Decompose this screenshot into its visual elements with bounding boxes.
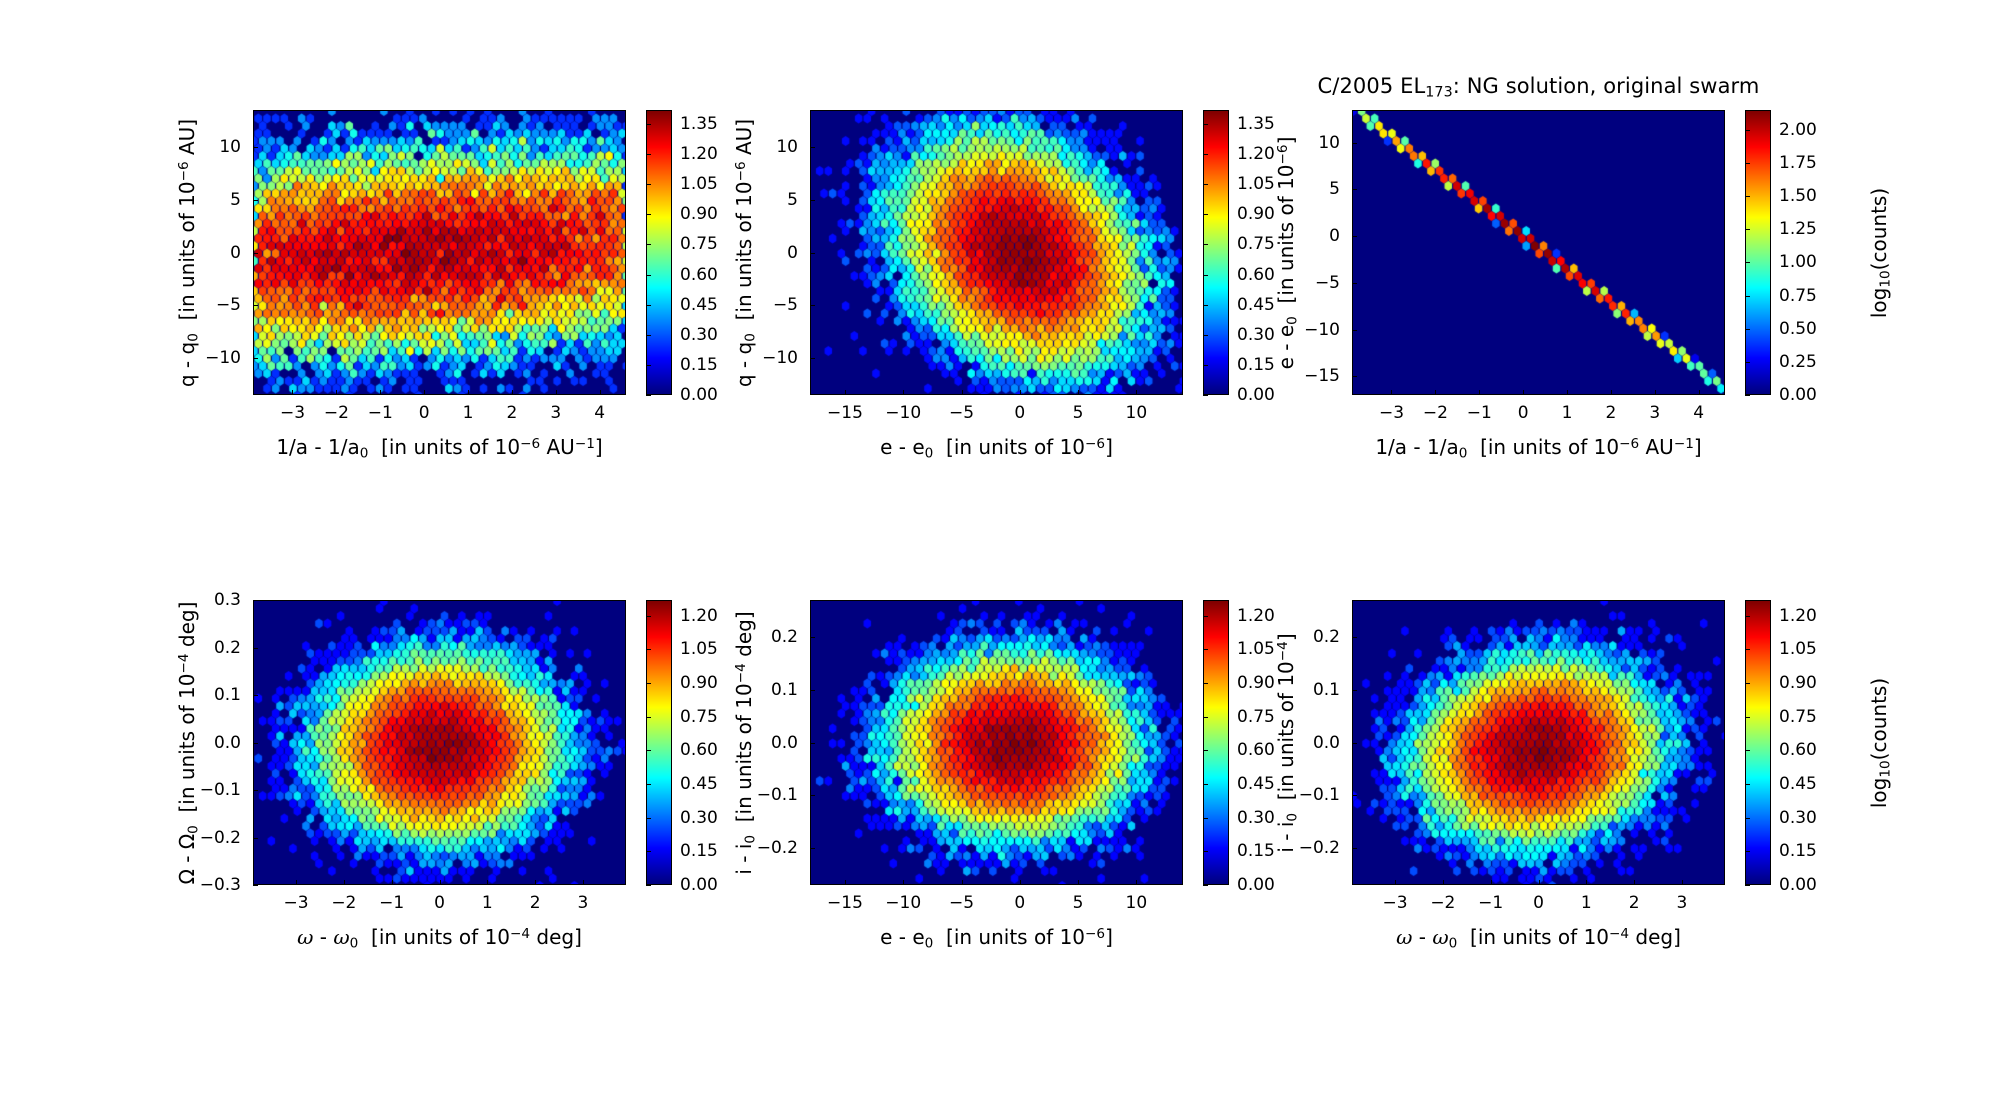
colorbar-tickmark bbox=[1745, 750, 1750, 751]
y-tickmark bbox=[253, 253, 258, 254]
colorbar-tickmark bbox=[646, 244, 651, 245]
x-tickmark bbox=[1443, 880, 1444, 885]
x-tickmark bbox=[1435, 390, 1436, 395]
y-tickmark bbox=[810, 637, 815, 638]
colorbar-tick-label: 0.00 bbox=[1779, 875, 1817, 895]
y-tick-label: −0.3 bbox=[200, 875, 241, 895]
y-tick-label: 5 bbox=[1329, 179, 1340, 199]
x-tickmark bbox=[1539, 880, 1540, 885]
colorbar-tick-label: 0.45 bbox=[1237, 774, 1275, 794]
colorbar-tick-label: 0.60 bbox=[1237, 265, 1275, 285]
x-tickmark bbox=[292, 390, 293, 395]
y-tickmark bbox=[1352, 743, 1357, 744]
x-tick-label: −3 bbox=[1379, 403, 1404, 423]
axes-area-2 bbox=[810, 110, 1183, 395]
colorbar-tick-label: 0.30 bbox=[1779, 808, 1817, 828]
colorbar-tickmark bbox=[1745, 683, 1750, 684]
hexbin-plot-1 bbox=[254, 111, 625, 394]
colorbar-tick-label: 0.90 bbox=[1237, 673, 1275, 693]
x-tick-label: −5 bbox=[949, 893, 974, 913]
y-tick-label: −15 bbox=[1304, 366, 1340, 386]
colorbar-tick-label: 0.75 bbox=[1237, 234, 1275, 254]
colorbar-3 bbox=[1745, 110, 1771, 395]
x-tick-label: −1 bbox=[1478, 893, 1503, 913]
x-tick-label: −2 bbox=[324, 403, 349, 423]
colorbar-tickmark bbox=[1203, 851, 1208, 852]
colorbar-tick-label: 0.00 bbox=[1237, 875, 1275, 895]
x-tick-label: −1 bbox=[379, 893, 404, 913]
x-tickmark bbox=[962, 880, 963, 885]
hexbin-plot-3 bbox=[1353, 111, 1724, 394]
y-axis-label-1: q - q0 [in units of 10−6 AU] bbox=[175, 118, 201, 386]
x-tick-label: −1 bbox=[1467, 403, 1492, 423]
colorbar-tickmark bbox=[1745, 163, 1750, 164]
hexbin-plot-2 bbox=[811, 111, 1182, 394]
y-tickmark bbox=[1352, 376, 1357, 377]
colorbar-tick-label: 0.90 bbox=[680, 673, 718, 693]
x-tick-label: 10 bbox=[1126, 403, 1148, 423]
x-tick-label: −2 bbox=[1423, 403, 1448, 423]
x-tickmark bbox=[962, 390, 963, 395]
y-tick-label: 0.1 bbox=[1313, 680, 1340, 700]
x-tickmark bbox=[1479, 390, 1480, 395]
colorbar-tickmark bbox=[1203, 335, 1208, 336]
colorbar-tickmark bbox=[1203, 717, 1208, 718]
colorbar-tickmark bbox=[1203, 784, 1208, 785]
y-tickmark bbox=[810, 358, 815, 359]
hexbin-plot-6 bbox=[1353, 601, 1724, 884]
x-tick-label: 3 bbox=[550, 403, 561, 423]
x-tickmark bbox=[424, 390, 425, 395]
y-tickmark bbox=[810, 147, 815, 148]
x-tickmark bbox=[1611, 390, 1612, 395]
x-tick-label: −2 bbox=[331, 893, 356, 913]
x-tickmark bbox=[1136, 390, 1137, 395]
x-tick-label: 1 bbox=[482, 893, 493, 913]
x-tickmark bbox=[600, 390, 601, 395]
axes-area-6 bbox=[1352, 600, 1725, 885]
colorbar-tickmark bbox=[646, 885, 651, 886]
colorbar-tick-label: 0.25 bbox=[1779, 352, 1817, 372]
colorbar-tickmark bbox=[1203, 184, 1208, 185]
colorbar-tickmark bbox=[646, 784, 651, 785]
colorbar-tickmark bbox=[1203, 365, 1208, 366]
x-tick-label: 0 bbox=[1014, 893, 1025, 913]
colorbar-tick-label: 1.35 bbox=[1237, 114, 1275, 134]
colorbar-tickmark bbox=[1203, 275, 1208, 276]
colorbar-tickmark bbox=[646, 818, 651, 819]
y-tickmark bbox=[810, 795, 815, 796]
colorbar-tickmark bbox=[646, 154, 651, 155]
colorbar-tick-label: 0.15 bbox=[680, 841, 718, 861]
y-axis-label-6: i - i0 [in units of 10−4] bbox=[1274, 633, 1300, 852]
y-tick-label: 0 bbox=[787, 243, 798, 263]
y-tickmark bbox=[810, 200, 815, 201]
x-tickmark bbox=[1491, 880, 1492, 885]
y-tick-label: 0.3 bbox=[214, 590, 241, 610]
x-axis-label-4: ω - ω0 [in units of 10−4 deg] bbox=[297, 925, 582, 951]
hexbin-plot-4 bbox=[254, 601, 625, 884]
x-tick-label: 10 bbox=[1126, 893, 1148, 913]
y-tick-label: 0 bbox=[1329, 226, 1340, 246]
colorbar-tick-label: 1.20 bbox=[1237, 144, 1275, 164]
y-tickmark bbox=[810, 848, 815, 849]
colorbar-tickmark bbox=[1745, 784, 1750, 785]
colorbar-tick-label: 0.75 bbox=[680, 234, 718, 254]
x-tickmark bbox=[1391, 390, 1392, 395]
y-tick-label: 10 bbox=[776, 137, 798, 157]
x-tickmark bbox=[1699, 390, 1700, 395]
colorbar-tickmark bbox=[646, 616, 651, 617]
figure-title: C/2005 EL173: NG solution, original swar… bbox=[1318, 74, 1760, 101]
x-tickmark bbox=[296, 880, 297, 885]
x-tick-label: 2 bbox=[1629, 893, 1640, 913]
y-tick-label: −5 bbox=[216, 295, 241, 315]
y-tick-label: −5 bbox=[1315, 273, 1340, 293]
x-tickmark bbox=[468, 390, 469, 395]
colorbar-tickmark bbox=[1745, 885, 1750, 886]
y-tickmark bbox=[253, 600, 258, 601]
colorbar-tickmark bbox=[646, 124, 651, 125]
y-tickmark bbox=[253, 358, 258, 359]
x-tickmark bbox=[1567, 390, 1568, 395]
colorbar-tick-label: 0.45 bbox=[680, 774, 718, 794]
x-tickmark bbox=[845, 880, 846, 885]
colorbar-tick-label: 1.05 bbox=[1779, 639, 1817, 659]
colorbar-tick-label: 0.15 bbox=[1237, 355, 1275, 375]
x-tick-label: 1 bbox=[463, 403, 474, 423]
y-axis-label-4: Ω - Ω0 [in units of 10−4 deg] bbox=[175, 601, 201, 884]
colorbar-gradient-2 bbox=[1204, 111, 1228, 394]
x-axis-label-6: ω - ω0 [in units of 10−4 deg] bbox=[1396, 925, 1681, 951]
x-tick-label: 0 bbox=[419, 403, 430, 423]
y-tickmark bbox=[810, 305, 815, 306]
x-tickmark bbox=[903, 390, 904, 395]
x-tickmark bbox=[1395, 880, 1396, 885]
colorbar-tickmark bbox=[646, 275, 651, 276]
colorbar-tickmark bbox=[1745, 362, 1750, 363]
x-tick-label: −3 bbox=[284, 893, 309, 913]
colorbar-tick-label: 0.45 bbox=[1779, 774, 1817, 794]
colorbar-tickmark bbox=[646, 214, 651, 215]
y-tick-label: 0.2 bbox=[771, 627, 798, 647]
y-tick-label: −0.1 bbox=[1299, 785, 1340, 805]
colorbar-tickmark bbox=[1745, 649, 1750, 650]
x-tick-label: 2 bbox=[1605, 403, 1616, 423]
y-tickmark bbox=[253, 695, 258, 696]
colorbar-tick-label: 0.00 bbox=[1779, 385, 1817, 405]
y-tickmark bbox=[253, 200, 258, 201]
colorbar-tick-label: 0.50 bbox=[1779, 319, 1817, 339]
x-tickmark bbox=[487, 880, 488, 885]
x-tick-label: 4 bbox=[594, 403, 605, 423]
y-tickmark bbox=[253, 648, 258, 649]
colorbar-gradient-1 bbox=[647, 111, 671, 394]
x-tickmark bbox=[1078, 390, 1079, 395]
x-tickmark bbox=[535, 880, 536, 885]
colorbar-tick-label: 1.05 bbox=[680, 639, 718, 659]
plot-panel-3: −3−2−1012341050−5−10−151/a - 1/a0 [in un… bbox=[0, 0, 2012, 1112]
colorbar-tick-label: 1.35 bbox=[680, 114, 718, 134]
colorbar-tickmark bbox=[646, 365, 651, 366]
x-tickmark bbox=[344, 880, 345, 885]
y-tick-label: −0.2 bbox=[200, 828, 241, 848]
x-tickmark bbox=[1682, 880, 1683, 885]
x-tick-label: 3 bbox=[1677, 893, 1688, 913]
y-axis-label-3: e - e0 [in units of 10−6] bbox=[1274, 136, 1300, 369]
x-tick-label: −15 bbox=[827, 403, 863, 423]
y-tick-label: −10 bbox=[762, 348, 798, 368]
colorbar-tickmark bbox=[1203, 154, 1208, 155]
x-tickmark bbox=[380, 390, 381, 395]
x-tickmark bbox=[1523, 390, 1524, 395]
x-tickmark bbox=[1078, 880, 1079, 885]
x-tick-label: 0 bbox=[1533, 893, 1544, 913]
colorbar-tickmark bbox=[1745, 851, 1750, 852]
y-axis-label-2: q - q0 [in units of 10−6 AU] bbox=[732, 118, 758, 386]
x-tick-label: 3 bbox=[578, 893, 589, 913]
colorbar-tick-label: 0.00 bbox=[680, 875, 718, 895]
colorbar-tickmark bbox=[1203, 124, 1208, 125]
x-axis-label-2: e - e0 [in units of 10−6] bbox=[880, 435, 1113, 461]
y-tickmark bbox=[1352, 330, 1357, 331]
colorbar-tick-label: 0.45 bbox=[680, 295, 718, 315]
colorbar-tick-label: 2.00 bbox=[1779, 120, 1817, 140]
x-tick-label: −3 bbox=[280, 403, 305, 423]
colorbar-tickmark bbox=[1745, 329, 1750, 330]
plot-panel-6: −3−2−101230.20.10.0−0.1−0.2ω - ω0 [in un… bbox=[0, 0, 2012, 1112]
y-tickmark bbox=[1352, 690, 1357, 691]
y-tickmark bbox=[1352, 189, 1357, 190]
x-tickmark bbox=[845, 390, 846, 395]
colorbar-tick-label: 1.05 bbox=[1237, 174, 1275, 194]
colorbar-tick-label: 1.20 bbox=[1779, 606, 1817, 626]
colorbar-tickmark bbox=[1745, 130, 1750, 131]
x-tickmark bbox=[1020, 390, 1021, 395]
y-tickmark bbox=[810, 743, 815, 744]
x-tick-label: 2 bbox=[506, 403, 517, 423]
colorbar-gradient-6 bbox=[1746, 601, 1770, 884]
colorbar-5 bbox=[1203, 600, 1229, 885]
x-tick-label: 2 bbox=[530, 893, 541, 913]
x-tick-label: 1 bbox=[1581, 893, 1592, 913]
x-tickmark bbox=[583, 880, 584, 885]
plot-panel-2: −15−10−505101050−5−10e - e0 [in units of… bbox=[0, 0, 2012, 1112]
x-tick-label: −2 bbox=[1430, 893, 1455, 913]
colorbar-tickmark bbox=[1203, 616, 1208, 617]
x-tickmark bbox=[1586, 880, 1587, 885]
x-tickmark bbox=[1634, 880, 1635, 885]
colorbar-tickmark bbox=[1745, 395, 1750, 396]
colorbar-tickmark bbox=[646, 184, 651, 185]
x-tick-label: −15 bbox=[827, 893, 863, 913]
colorbar-tick-label: 0.30 bbox=[680, 325, 718, 345]
colorbar-tickmark bbox=[1203, 305, 1208, 306]
colorbar-tick-label: 0.00 bbox=[680, 385, 718, 405]
x-tick-label: −3 bbox=[1383, 893, 1408, 913]
colorbar-gradient-5 bbox=[1204, 601, 1228, 884]
colorbar-tickmark bbox=[1203, 214, 1208, 215]
plot-panel-5: −15−10−505100.20.10.0−0.1−0.2e - e0 [in … bbox=[0, 0, 2012, 1112]
colorbar-tickmark bbox=[646, 335, 651, 336]
y-tickmark bbox=[253, 790, 258, 791]
colorbar-tickmark bbox=[1745, 229, 1750, 230]
x-tickmark bbox=[1136, 880, 1137, 885]
colorbar-tickmark bbox=[1203, 649, 1208, 650]
y-tickmark bbox=[1352, 236, 1357, 237]
colorbar-tick-label: 0.60 bbox=[1779, 740, 1817, 760]
colorbar-tick-label: 1.20 bbox=[680, 606, 718, 626]
colorbar-tickmark bbox=[646, 395, 651, 396]
colorbar-tickmark bbox=[646, 717, 651, 718]
colorbar-1 bbox=[646, 110, 672, 395]
colorbar-tick-label: 0.00 bbox=[1237, 385, 1275, 405]
x-tick-label: 0 bbox=[1518, 403, 1529, 423]
x-tick-label: 3 bbox=[1649, 403, 1660, 423]
y-tick-label: 0.0 bbox=[1313, 733, 1340, 753]
y-tick-label: 5 bbox=[787, 190, 798, 210]
y-tickmark bbox=[1352, 795, 1357, 796]
x-tick-label: −5 bbox=[949, 403, 974, 423]
x-tick-label: 4 bbox=[1693, 403, 1704, 423]
x-tickmark bbox=[1655, 390, 1656, 395]
x-axis-label-3: 1/a - 1/a0 [in units of 10−6 AU−1] bbox=[1375, 435, 1701, 461]
colorbar-tick-label: 0.75 bbox=[1779, 707, 1817, 727]
y-tickmark bbox=[253, 838, 258, 839]
colorbar-tick-label: 0.30 bbox=[680, 808, 718, 828]
colorbar-tick-label: 0.45 bbox=[1237, 295, 1275, 315]
axes-area-5 bbox=[810, 600, 1183, 885]
colorbar-tick-label: 1.20 bbox=[680, 144, 718, 164]
colorbar-tick-label: 0.60 bbox=[680, 265, 718, 285]
x-tickmark bbox=[556, 390, 557, 395]
colorbar-tick-label: 0.75 bbox=[1237, 707, 1275, 727]
x-tick-label: −1 bbox=[368, 403, 393, 423]
colorbar-tickmark bbox=[646, 649, 651, 650]
x-tickmark bbox=[336, 390, 337, 395]
x-axis-label-1: 1/a - 1/a0 [in units of 10−6 AU−1] bbox=[276, 435, 602, 461]
y-tickmark bbox=[253, 885, 258, 886]
colorbar-tick-label: 0.60 bbox=[680, 740, 718, 760]
axes-area-3 bbox=[1352, 110, 1725, 395]
colorbar-tick-label: 1.25 bbox=[1779, 219, 1817, 239]
x-tick-label: −10 bbox=[885, 893, 921, 913]
y-tick-label: 0.1 bbox=[771, 680, 798, 700]
colorbar-tickmark bbox=[646, 683, 651, 684]
colorbar-tick-label: 0.90 bbox=[1237, 204, 1275, 224]
axes-area-1 bbox=[253, 110, 626, 395]
y-tick-label: −10 bbox=[205, 348, 241, 368]
colorbar-tickmark bbox=[646, 851, 651, 852]
y-tickmark bbox=[810, 690, 815, 691]
y-tickmark bbox=[253, 147, 258, 148]
colorbar-4 bbox=[646, 600, 672, 885]
plot-panel-4: −3−2−101230.30.20.10.0−0.1−0.2−0.3ω - ω0… bbox=[0, 0, 2012, 1112]
y-tick-label: 0.0 bbox=[771, 733, 798, 753]
y-tick-label: 0 bbox=[230, 243, 241, 263]
colorbar-tick-label: 1.20 bbox=[1237, 606, 1275, 626]
x-tickmark bbox=[392, 880, 393, 885]
y-tick-label: −0.1 bbox=[757, 785, 798, 805]
x-tick-label: −10 bbox=[885, 403, 921, 423]
y-tickmark bbox=[1352, 848, 1357, 849]
colorbar-tickmark bbox=[1203, 244, 1208, 245]
axes-area-4 bbox=[253, 600, 626, 885]
colorbar-tick-label: 1.50 bbox=[1779, 186, 1817, 206]
colorbar-gradient-3 bbox=[1746, 111, 1770, 394]
y-tick-label: 10 bbox=[1318, 133, 1340, 153]
x-tickmark bbox=[903, 880, 904, 885]
y-tickmark bbox=[253, 305, 258, 306]
colorbar-tick-label: 0.30 bbox=[1237, 808, 1275, 828]
plot-panel-1: −3−2−1012341050−5−101/a - 1/a0 [in units… bbox=[0, 0, 2012, 1112]
y-tick-label: −0.2 bbox=[757, 838, 798, 858]
colorbar-tick-label: 0.15 bbox=[1779, 841, 1817, 861]
y-tick-label: 5 bbox=[230, 190, 241, 210]
colorbar-tickmark bbox=[1745, 818, 1750, 819]
colorbar-tickmark bbox=[1203, 818, 1208, 819]
colorbar-tickmark bbox=[1203, 683, 1208, 684]
y-tickmark bbox=[1352, 143, 1357, 144]
colorbar-tickmark bbox=[1745, 262, 1750, 263]
y-axis-label-5: i - i0 [in units of 10−4 deg] bbox=[732, 611, 758, 874]
colorbar-tick-label: 0.90 bbox=[1779, 673, 1817, 693]
y-tick-label: 0.1 bbox=[214, 685, 241, 705]
y-tick-label: 10 bbox=[219, 137, 241, 157]
x-tickmark bbox=[1020, 880, 1021, 885]
colorbar-tickmark bbox=[1745, 196, 1750, 197]
hexbin-plot-5 bbox=[811, 601, 1182, 884]
colorbar-label-3: log10(counts) bbox=[1867, 187, 1893, 317]
y-tickmark bbox=[1352, 283, 1357, 284]
colorbar-tickmark bbox=[646, 750, 651, 751]
x-tick-label: 1 bbox=[1562, 403, 1573, 423]
x-axis-label-5: e - e0 [in units of 10−6] bbox=[880, 925, 1113, 951]
colorbar-tick-label: 1.00 bbox=[1779, 252, 1817, 272]
colorbar-tickmark bbox=[1203, 750, 1208, 751]
y-tick-label: −5 bbox=[773, 295, 798, 315]
y-tickmark bbox=[253, 743, 258, 744]
colorbar-tickmark bbox=[1745, 296, 1750, 297]
colorbar-tickmark bbox=[1203, 395, 1208, 396]
colorbar-label-6: log10(counts) bbox=[1867, 677, 1893, 807]
y-tickmark bbox=[1352, 637, 1357, 638]
colorbar-tick-label: 0.15 bbox=[680, 355, 718, 375]
y-tick-label: −0.1 bbox=[200, 780, 241, 800]
y-tick-label: 0.2 bbox=[214, 638, 241, 658]
colorbar-tick-label: 1.05 bbox=[680, 174, 718, 194]
figure-canvas: −3−2−1012341050−5−101/a - 1/a0 [in units… bbox=[0, 0, 2012, 1112]
x-tickmark bbox=[440, 880, 441, 885]
colorbar-6 bbox=[1745, 600, 1771, 885]
y-tick-label: 0.2 bbox=[1313, 627, 1340, 647]
y-tick-label: 0.0 bbox=[214, 733, 241, 753]
colorbar-gradient-4 bbox=[647, 601, 671, 884]
x-tick-label: 0 bbox=[434, 893, 445, 913]
y-tick-label: −10 bbox=[1304, 320, 1340, 340]
colorbar-tick-label: 0.75 bbox=[1779, 286, 1817, 306]
colorbar-tickmark bbox=[646, 305, 651, 306]
y-tick-label: −0.2 bbox=[1299, 838, 1340, 858]
colorbar-tickmark bbox=[1745, 616, 1750, 617]
colorbar-tickmark bbox=[1745, 717, 1750, 718]
colorbar-tick-label: 0.60 bbox=[1237, 740, 1275, 760]
colorbar-tick-label: 0.75 bbox=[680, 707, 718, 727]
x-tick-label: 0 bbox=[1014, 403, 1025, 423]
colorbar-tick-label: 0.30 bbox=[1237, 325, 1275, 345]
colorbar-tick-label: 1.75 bbox=[1779, 153, 1817, 173]
colorbar-tick-label: 1.05 bbox=[1237, 639, 1275, 659]
